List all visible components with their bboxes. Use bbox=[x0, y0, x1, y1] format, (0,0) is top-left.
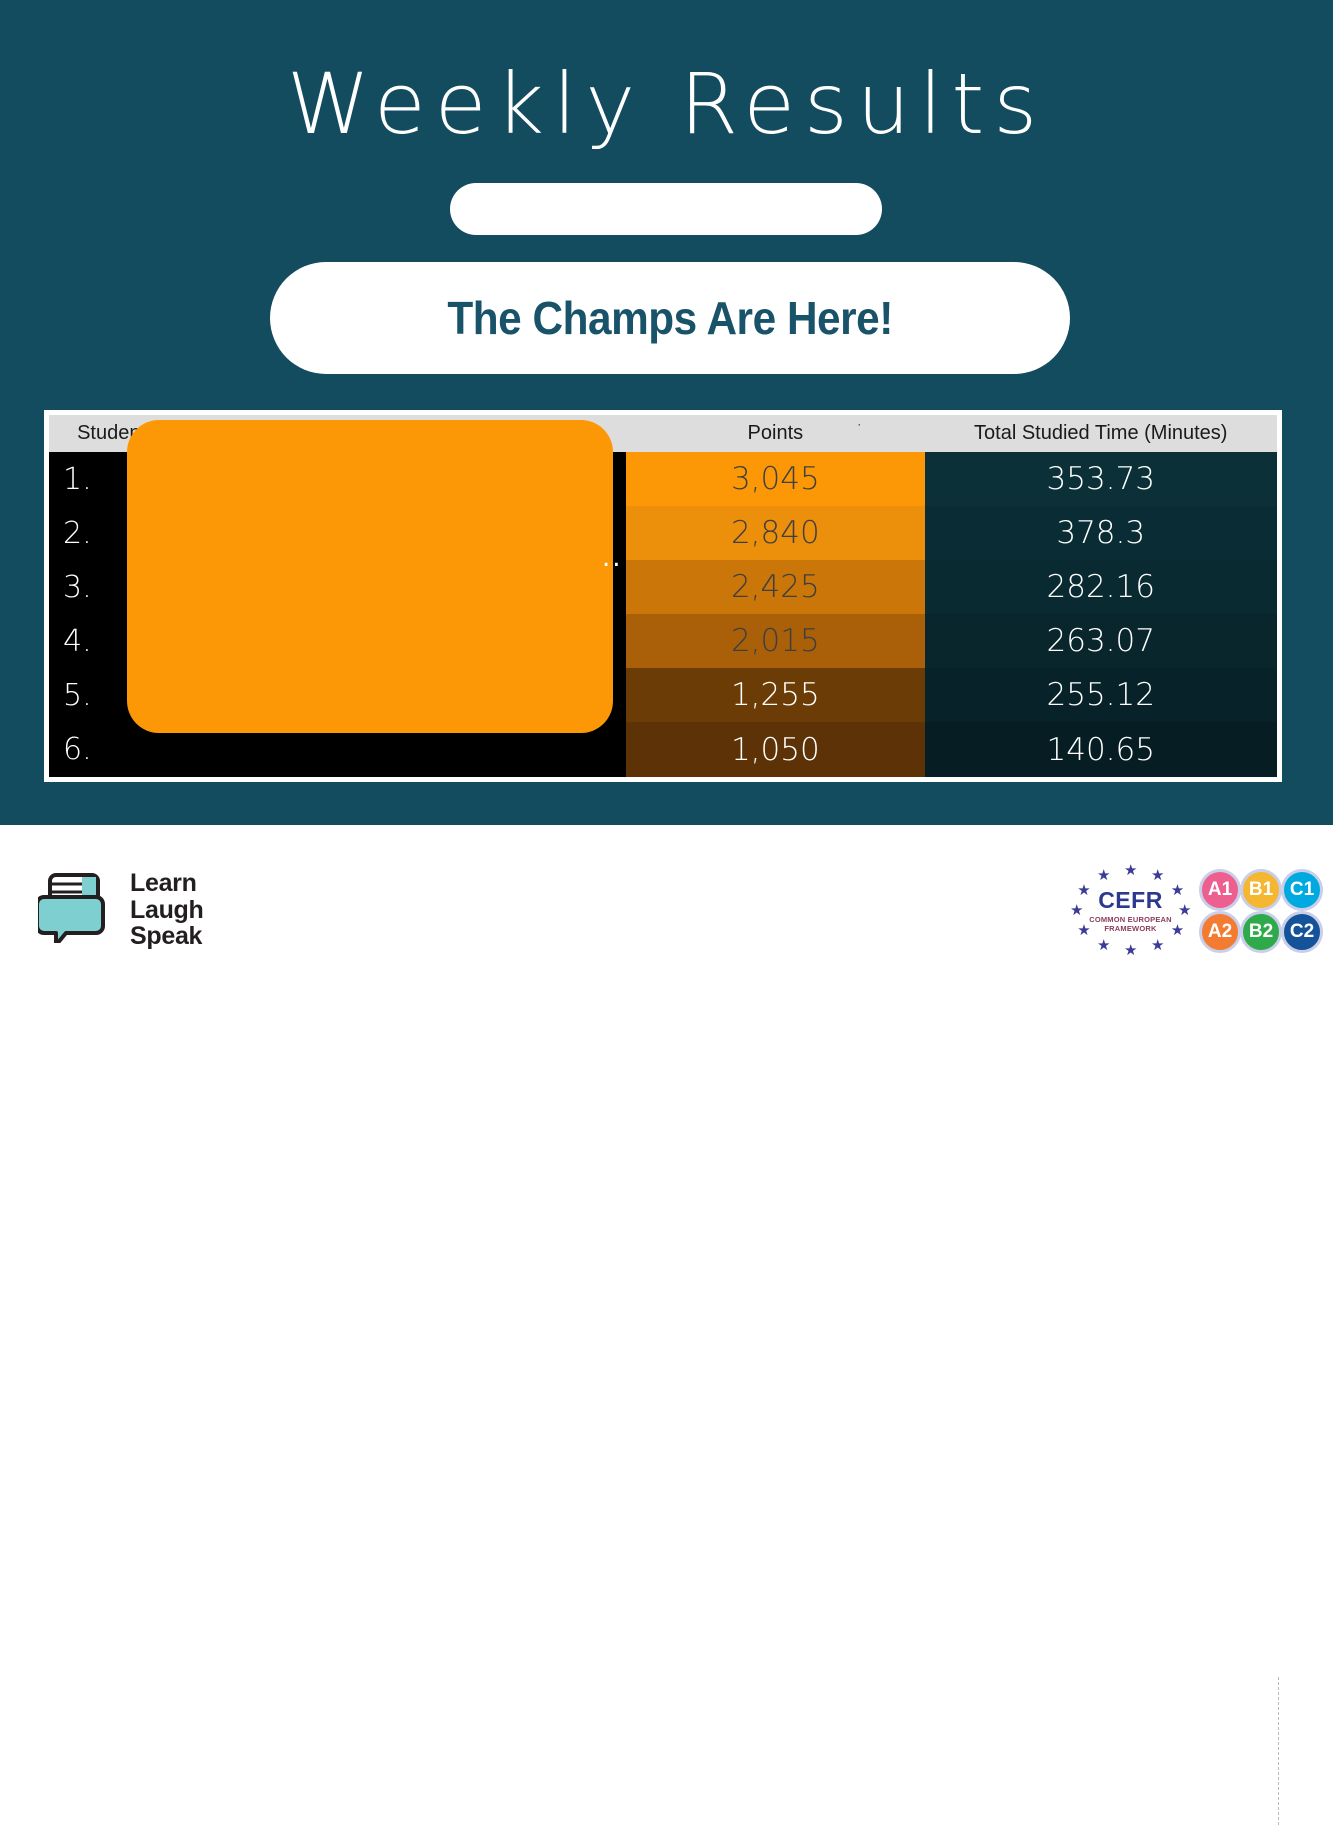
column-header-time-label: Total Studied Time (Minutes) bbox=[974, 422, 1227, 445]
cell-rank: 4. bbox=[49, 614, 128, 668]
results-table: Students Points ˙ Total Studied Time (Mi… bbox=[44, 410, 1282, 782]
column-header-total-studied-time[interactable]: Total Studied Time (Minutes) bbox=[925, 415, 1277, 452]
cefr-wordmark: CEFR COMMON EUROPEAN FRAMEWORK bbox=[1077, 889, 1185, 933]
footer-divider bbox=[1278, 1677, 1279, 1825]
cefr-star-icon: ★ bbox=[1097, 868, 1110, 883]
cefr-sub-label-1: COMMON EUROPEAN bbox=[1077, 915, 1185, 924]
truncated-name-ellipsis: .. bbox=[602, 543, 623, 573]
cefr-star-icon: ★ bbox=[1077, 923, 1090, 938]
column-header-points-label: Points bbox=[748, 422, 804, 445]
cefr-star-icon: ★ bbox=[1151, 938, 1164, 953]
cefr-star-icon: ★ bbox=[1070, 903, 1083, 918]
cell-rank: 5. bbox=[49, 668, 128, 722]
cell-points: 1,255 bbox=[626, 668, 924, 722]
cell-rank: 6. bbox=[49, 722, 128, 776]
champs-pill: The Champs Are Here! bbox=[270, 262, 1070, 374]
cefr-star-icon: ★ bbox=[1171, 883, 1184, 898]
cefr-star-icon: ★ bbox=[1178, 903, 1191, 918]
brand-logo-line-3: Speak bbox=[130, 923, 204, 950]
cefr-main-label: CEFR bbox=[1077, 889, 1185, 912]
cell-points: 2,015 bbox=[626, 614, 924, 668]
cell-total-studied-time: 353.73 bbox=[925, 452, 1277, 506]
column-header-points[interactable]: Points ˙ bbox=[626, 415, 924, 452]
cefr-star-icon: ★ bbox=[1077, 883, 1090, 898]
cell-points: 1,050 bbox=[626, 722, 924, 776]
cell-total-studied-time: 140.65 bbox=[925, 722, 1277, 776]
cefr-star-icon: ★ bbox=[1097, 938, 1110, 953]
cefr-star-icon: ★ bbox=[1171, 923, 1184, 938]
cefr-level-b1: B1 bbox=[1240, 869, 1282, 911]
cefr-level-a2: A2 bbox=[1199, 911, 1241, 953]
brand-logo-wordmark: Learn Laugh Speak bbox=[130, 870, 204, 950]
cell-total-studied-time: 255.12 bbox=[925, 668, 1277, 722]
hero-panel: Weekly Results The Champs Are Here! Stud… bbox=[0, 0, 1333, 825]
cefr-level-b2: B2 bbox=[1240, 911, 1282, 953]
cell-rank: 2. bbox=[49, 506, 128, 560]
cefr-level-c2: C2 bbox=[1281, 911, 1323, 953]
cefr-star-icon: ★ bbox=[1124, 863, 1137, 878]
cell-points: 3,045 bbox=[626, 452, 924, 506]
cefr-star-icon: ★ bbox=[1151, 868, 1164, 883]
brand-logo-line-2: Laugh bbox=[130, 897, 204, 924]
cell-points: 2,840 bbox=[626, 506, 924, 560]
cell-rank: 1. bbox=[49, 452, 128, 506]
cefr-sub-label-2: FRAMEWORK bbox=[1077, 924, 1185, 933]
cefr-level-c1: C1 bbox=[1281, 869, 1323, 911]
cefr-star-icon: ★ bbox=[1124, 943, 1137, 958]
champs-pill-label: The Champs Are Here! bbox=[447, 291, 892, 345]
cefr-star-circle-icon: CEFR COMMON EUROPEAN FRAMEWORK ★★★★★★★★★… bbox=[1068, 865, 1193, 957]
blank-pill bbox=[450, 183, 882, 235]
page-title: Weekly Results bbox=[0, 58, 1333, 150]
cefr-level-a1: A1 bbox=[1199, 869, 1241, 911]
cell-points: 2,425 bbox=[626, 560, 924, 614]
cefr-badge: CEFR COMMON EUROPEAN FRAMEWORK ★★★★★★★★★… bbox=[1068, 865, 1321, 957]
sort-indicator-icon[interactable]: ˙ bbox=[858, 422, 863, 439]
brand-logo[interactable]: Learn Laugh Speak bbox=[38, 870, 204, 950]
cell-total-studied-time: 263.07 bbox=[925, 614, 1277, 668]
footer: Learn Laugh Speak CEFR COMMON EUROPEAN F… bbox=[0, 825, 1333, 1000]
speech-bubble-book-icon bbox=[38, 871, 116, 948]
cefr-level-badges: A1B1C1A2B2C2 bbox=[1199, 869, 1321, 953]
cell-rank: 3. bbox=[49, 560, 128, 614]
student-names-redaction-block bbox=[127, 420, 613, 733]
brand-logo-line-1: Learn bbox=[130, 870, 204, 897]
cell-total-studied-time: 282.16 bbox=[925, 560, 1277, 614]
results-table-body-wrapper: Students Points ˙ Total Studied Time (Mi… bbox=[49, 415, 1277, 777]
cell-total-studied-time: 378.3 bbox=[925, 506, 1277, 560]
